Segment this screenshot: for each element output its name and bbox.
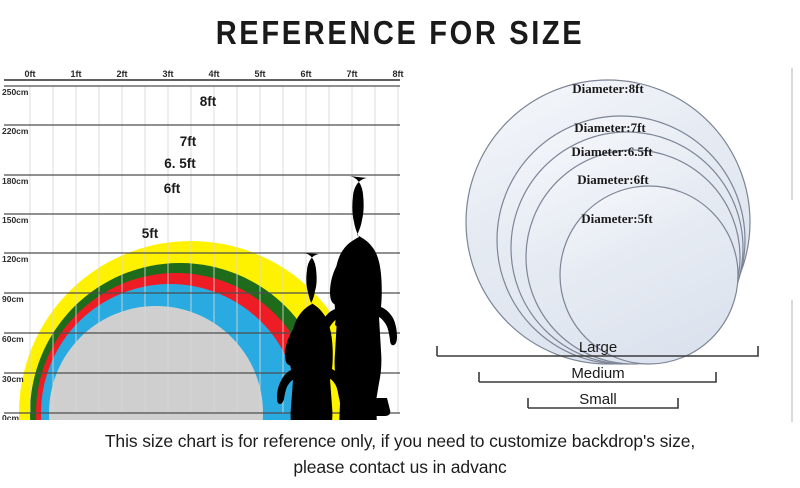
x-tick-label: 3ft bbox=[163, 69, 174, 79]
x-tick-label: 2ft bbox=[117, 69, 128, 79]
x-tick-label: 8ft bbox=[393, 69, 404, 79]
page-title: REFERENCE FOR SIZE bbox=[48, 14, 752, 52]
x-tick-label: 6ft bbox=[301, 69, 312, 79]
disc-label-5ft: Diameter:5ft bbox=[581, 211, 653, 226]
ring-label-8ft: 8ft bbox=[200, 94, 217, 109]
bracket-label-medium: Medium bbox=[571, 365, 624, 382]
bracket-label-small: Small bbox=[579, 391, 617, 408]
ring-label-65ft: 6. 5ft bbox=[164, 156, 196, 171]
y-tick-label: 180cm bbox=[2, 176, 29, 186]
disc-label-7ft: Diameter:7ft bbox=[574, 120, 646, 135]
x-tick-label: 5ft bbox=[255, 69, 266, 79]
y-tick-label: 30cm bbox=[2, 374, 24, 384]
y-tick-label: 220cm bbox=[2, 126, 29, 136]
diameter-reference-panel: Diameter:8ft Diameter:7ft Diameter:6.5ft… bbox=[420, 60, 800, 425]
y-tick-label: 120cm bbox=[2, 254, 29, 264]
x-tick-label: 7ft bbox=[347, 69, 358, 79]
ring-label-5ft: 5ft bbox=[142, 226, 159, 241]
caption-line-1: This size chart is for reference only, i… bbox=[0, 428, 800, 454]
disclaimer-caption: This size chart is for reference only, i… bbox=[0, 428, 800, 480]
ring-label-7ft: 7ft bbox=[180, 134, 197, 149]
x-axis-ticks: 0ft 1ft 2ft 3ft 4ft 5ft 6ft 7ft 8ft bbox=[25, 69, 404, 79]
y-tick-label: 60cm bbox=[2, 334, 24, 344]
y-tick-label: 250cm bbox=[2, 87, 29, 97]
ring-label-6ft: 6ft bbox=[164, 181, 181, 196]
disc-label-6ft: Diameter:6ft bbox=[577, 172, 649, 187]
caption-line-2: please contact us in advanc bbox=[0, 454, 800, 480]
bracket-label-large: Large bbox=[579, 339, 617, 356]
height-reference-chart: 0ft 1ft 2ft 3ft 4ft 5ft 6ft 7ft 8ft 250c… bbox=[0, 68, 420, 420]
y-tick-label: 0cm bbox=[2, 413, 19, 420]
disc-label-8ft: Diameter:8ft bbox=[572, 81, 644, 96]
x-tick-label: 4ft bbox=[209, 69, 220, 79]
y-tick-label: 150cm bbox=[2, 215, 29, 225]
x-tick-label: 0ft bbox=[25, 69, 36, 79]
x-tick-label: 1ft bbox=[71, 69, 82, 79]
y-tick-label: 90cm bbox=[2, 294, 24, 304]
disc-label-65ft: Diameter:6.5ft bbox=[571, 144, 653, 159]
